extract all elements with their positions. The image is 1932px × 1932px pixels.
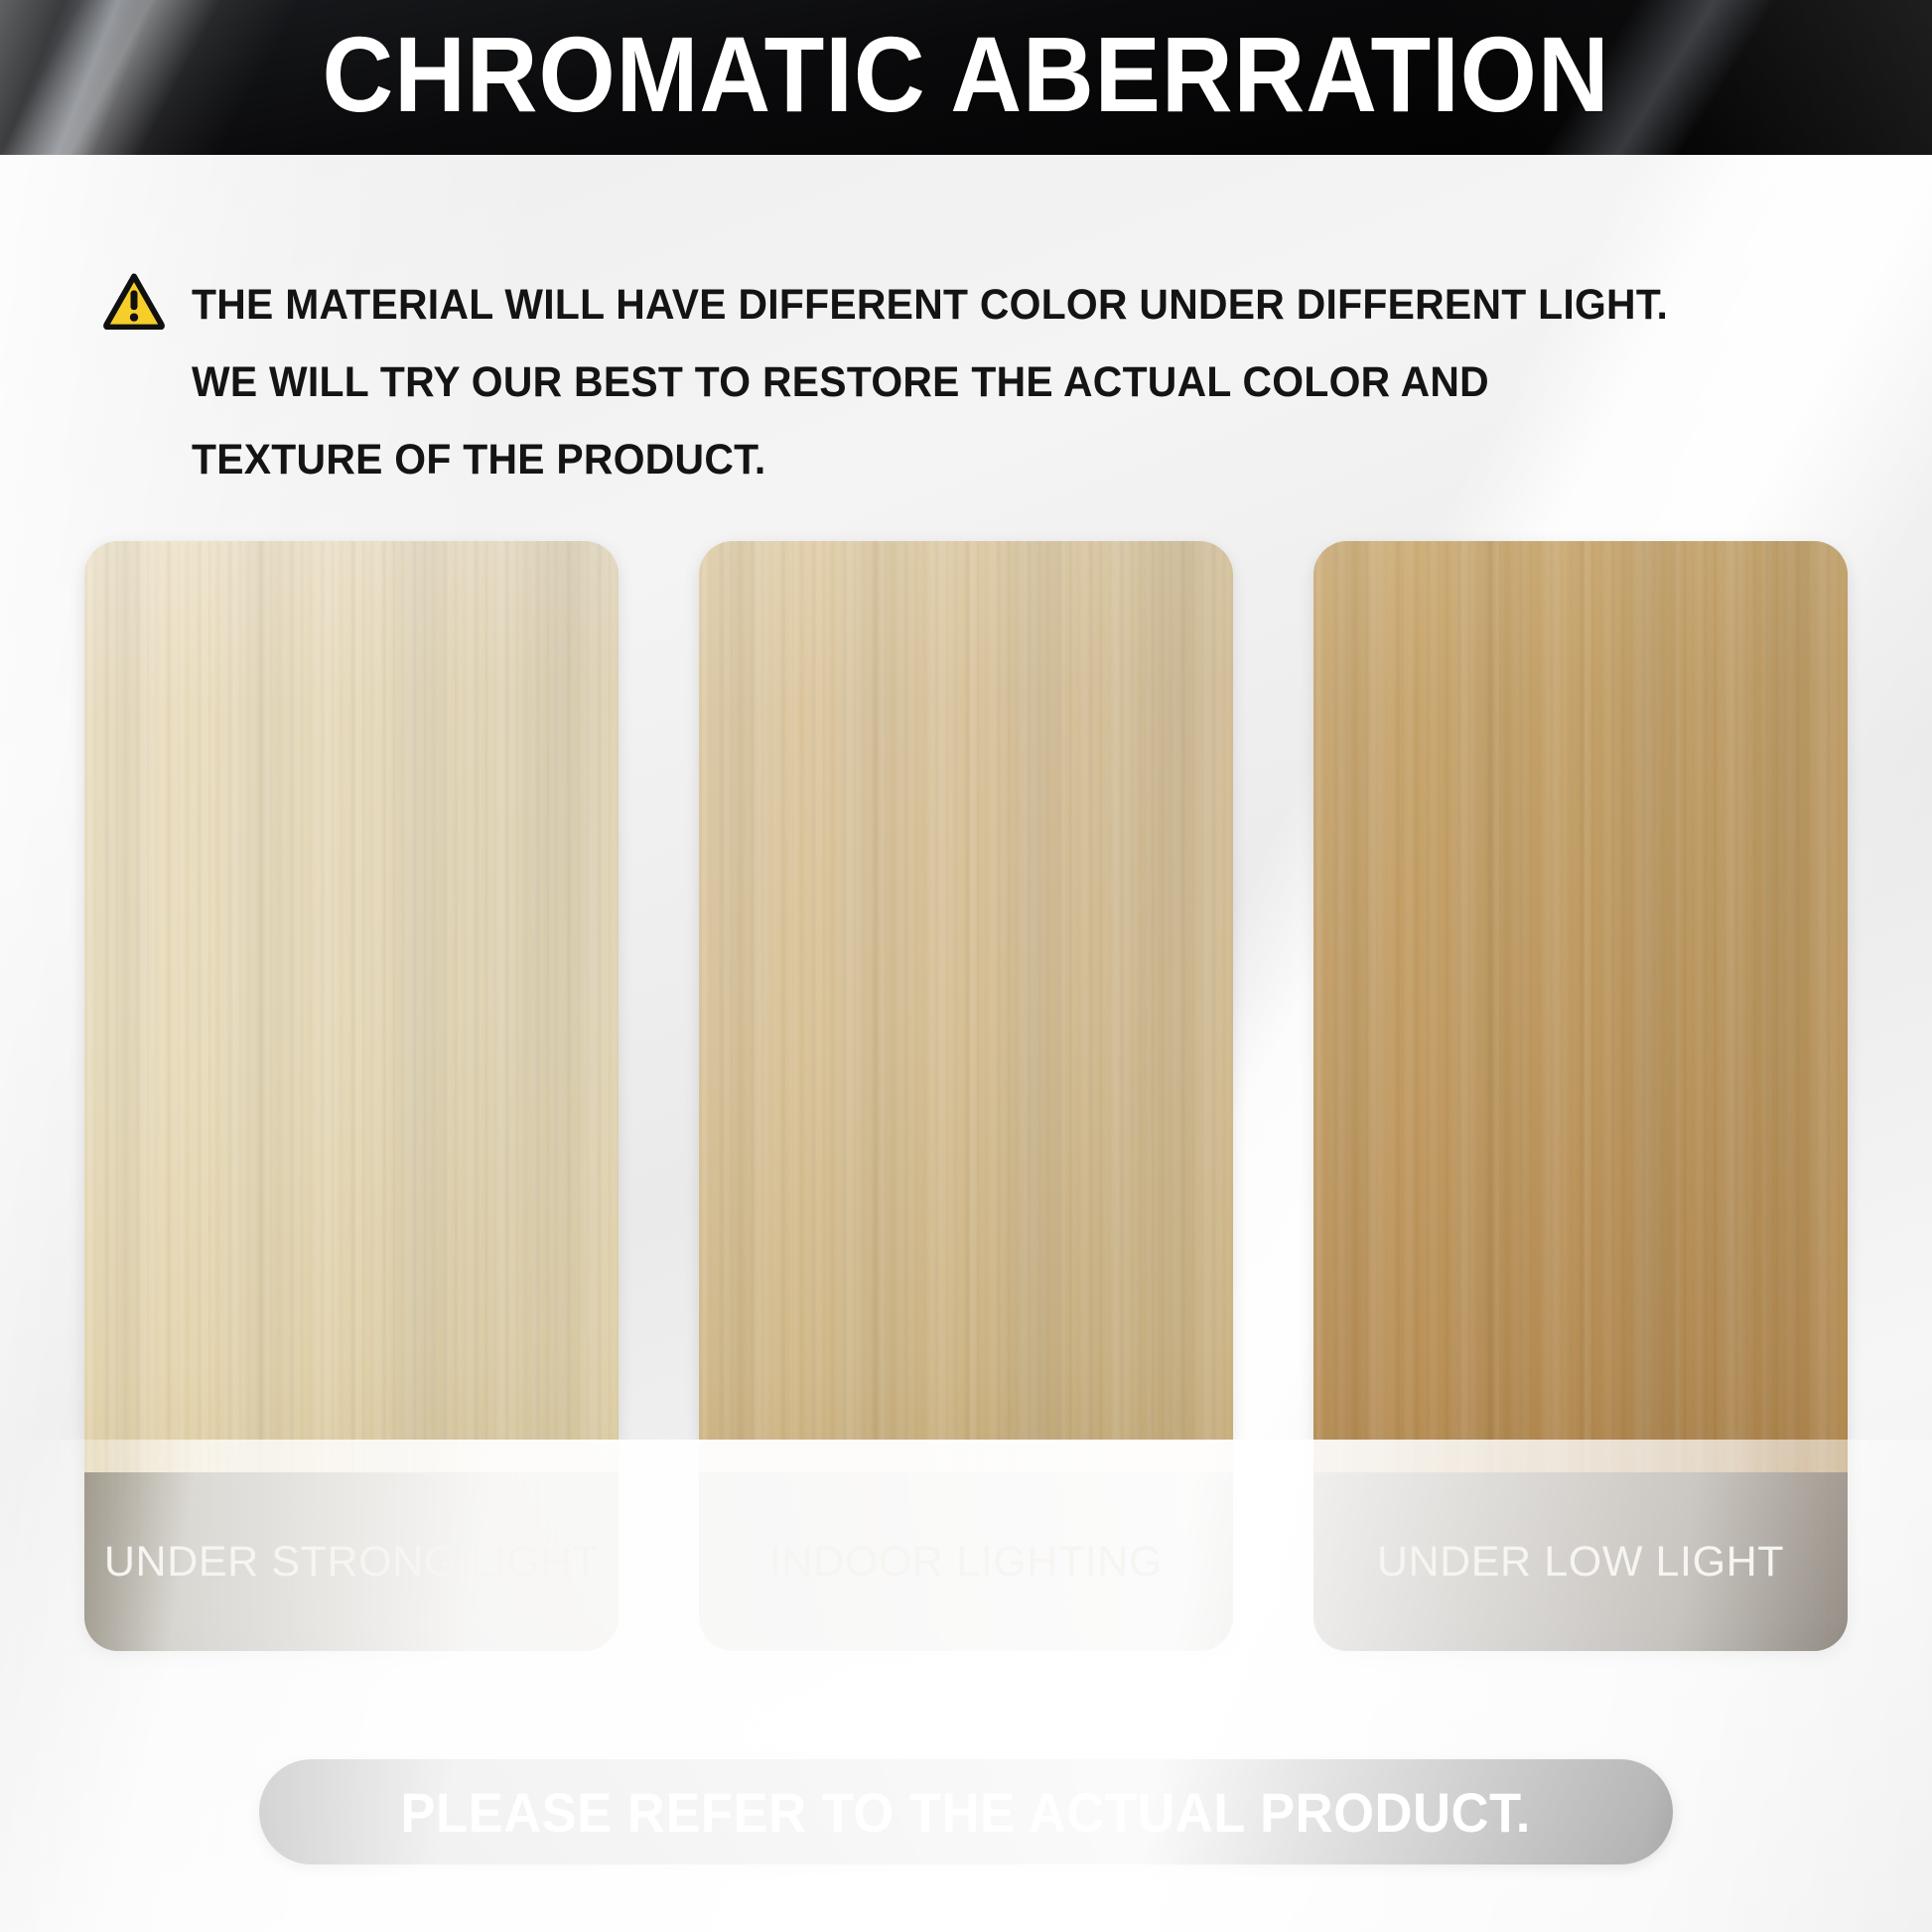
refer-to-actual-product-banner[interactable]: PLEASE REFER TO THE ACTUAL PRODUCT. [259,1759,1673,1864]
swatch-label-indoor-lighting: INDOOR LIGHTING [769,1538,1163,1587]
wood-grain-texture [84,541,619,1472]
chromatic-aberration-notice: THE MATERIAL WILL HAVE DIFFERENT COLOR U… [103,266,1851,498]
notice-text-block: THE MATERIAL WILL HAVE DIFFERENT COLOR U… [192,266,1668,498]
wood-grain-highlight [699,541,1233,1472]
swatch-panel-group: UNDER STRONG LIGHT INDOOR LIGHTING [84,541,1848,1651]
wood-grain-highlight [84,541,619,1472]
notice-line-2: WE WILL TRY OUR BEST TO RESTORE THE ACTU… [192,344,1668,421]
swatch-panel-strong-light[interactable]: UNDER STRONG LIGHT [84,541,619,1651]
notice-line-3: TEXTURE OF THE PRODUCT. [192,421,1668,498]
wood-surface [699,541,1233,1472]
swatch-panel-low-light[interactable]: UNDER LOW LIGHT [1313,541,1848,1651]
wood-sheen [699,541,1233,1472]
notice-line-1: THE MATERIAL WILL HAVE DIFFERENT COLOR U… [192,266,1668,344]
warning-triangle-icon [103,272,165,330]
wood-sheen [1313,541,1848,1472]
wood-sheen [84,541,619,1472]
footer-label: PLEASE REFER TO THE ACTUAL PRODUCT. [401,1780,1532,1845]
page-title: CHROMATIC ABERRATION [77,16,1855,133]
wood-grain-highlight [1313,541,1848,1472]
swatch-label-strong-light: UNDER STRONG LIGHT [104,1538,599,1587]
wood-grain-texture [699,541,1233,1472]
wood-grain-texture [1313,541,1848,1472]
swatch-label-strip: UNDER LOW LIGHT [1313,1472,1848,1651]
swatch-label-low-light: UNDER LOW LIGHT [1377,1538,1784,1587]
header-banner: CHROMATIC ABERRATION [0,0,1932,155]
swatch-label-strip: INDOOR LIGHTING [699,1472,1233,1651]
swatch-panel-indoor-lighting[interactable]: INDOOR LIGHTING [699,541,1233,1651]
page-canvas: CHROMATIC ABERRATION THE MATERIAL WILL H… [0,0,1932,1932]
swatch-label-strip: UNDER STRONG LIGHT [84,1472,619,1651]
wood-surface [1313,541,1848,1472]
wood-surface [84,541,619,1472]
